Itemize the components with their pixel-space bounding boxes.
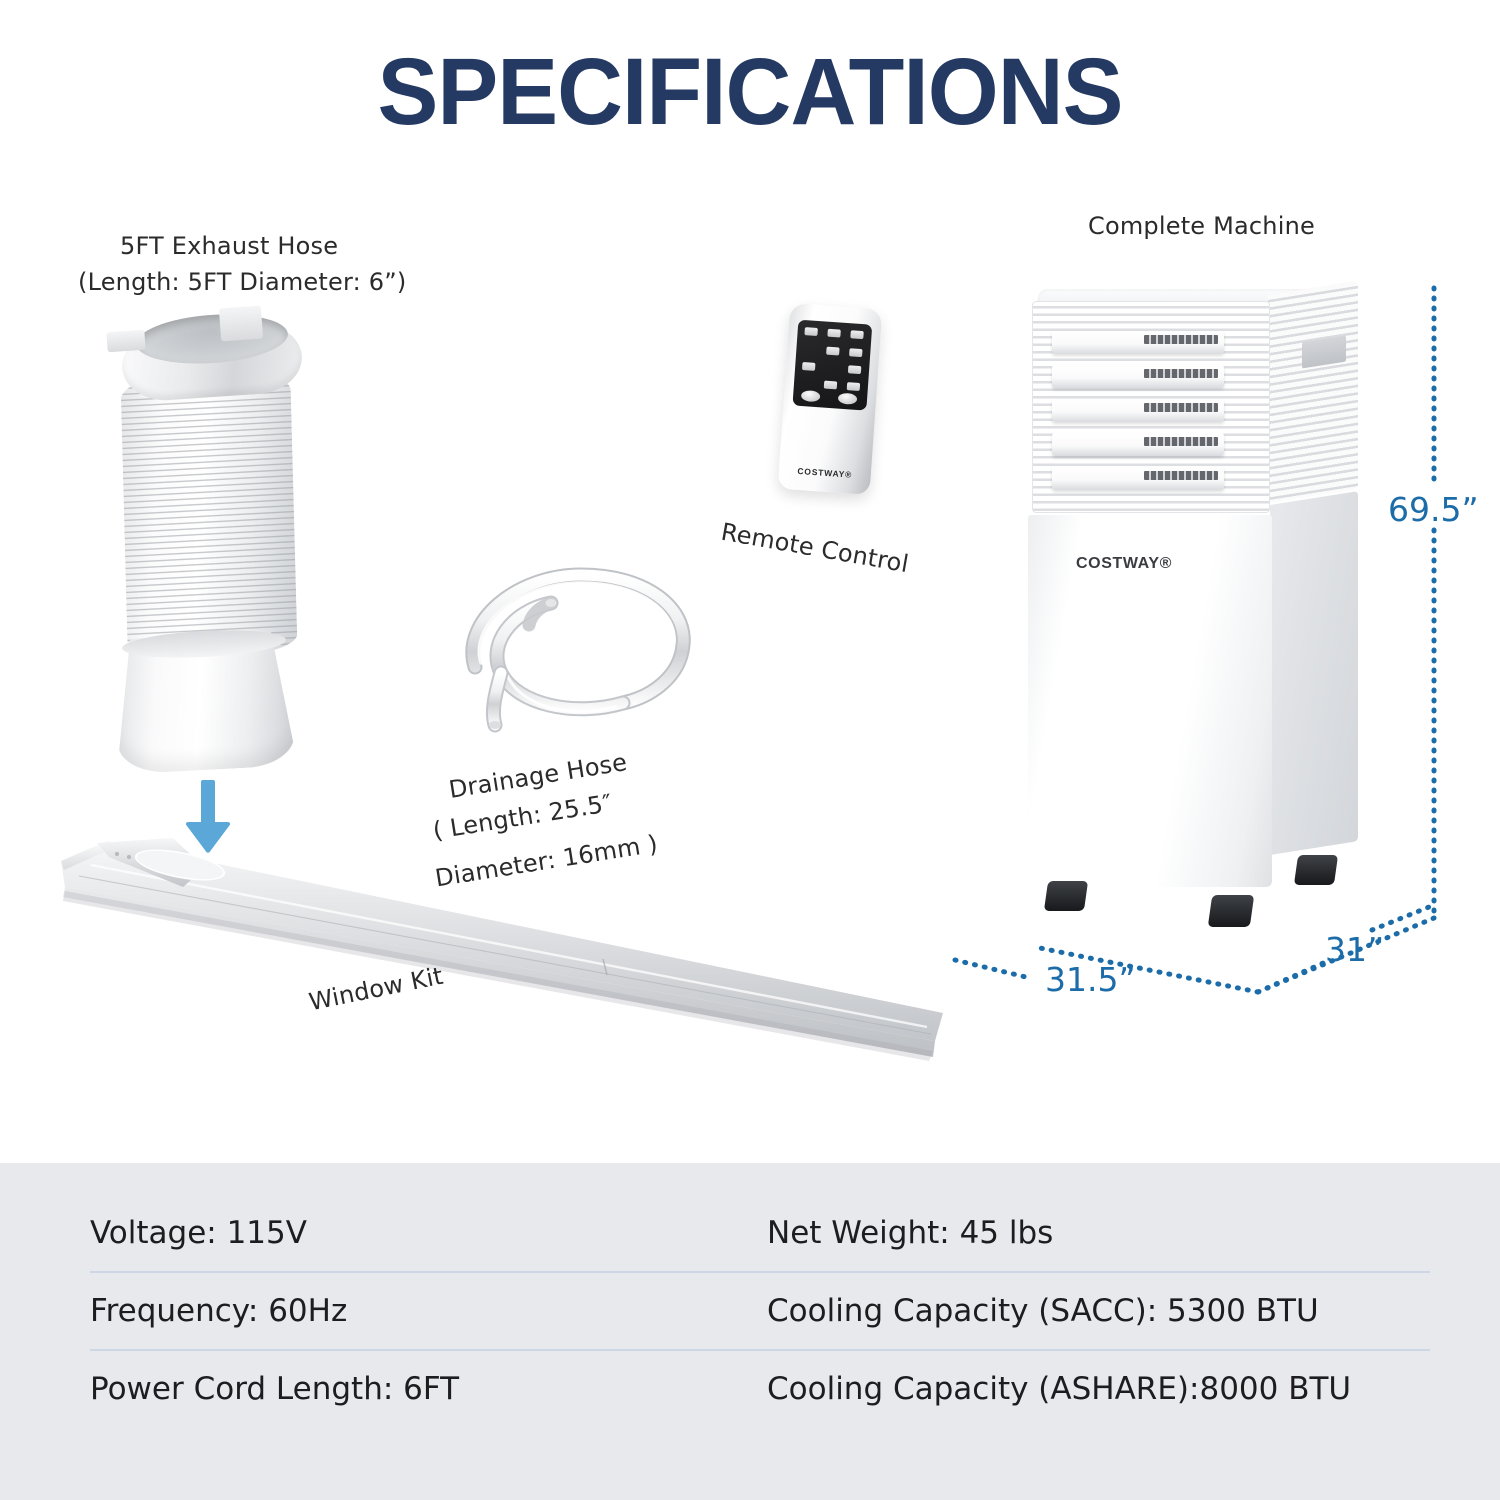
remote-control-label: Remote Control (719, 518, 911, 579)
spec-cell-cooling-sacc: Cooling Capacity (SACC): 5300 BTU (745, 1273, 1430, 1351)
hose-tab-left (106, 330, 145, 353)
spec-cell-cooling-ashare: Cooling Capacity (ASHARE):8000 BTU (745, 1351, 1430, 1427)
specification-sheet: SPECIFICATIONS 5FT Exhaust Hose (Length:… (0, 0, 1500, 1500)
ac-louver (1052, 365, 1224, 388)
exhaust-hose-label-line1: 5FT Exhaust Hose (120, 232, 338, 260)
remote-button-sleep[interactable] (824, 381, 838, 390)
remote-brand-label: COSTWAY® (779, 465, 871, 481)
remote-control-image: COSTWAY® (778, 303, 883, 495)
ac-body-side (1270, 491, 1358, 855)
remote-button-timer[interactable] (801, 390, 821, 402)
drainage-hose-image (455, 555, 705, 740)
ac-louver (1052, 433, 1224, 456)
specs-table: Voltage: 115V Net Weight: 45 lbs Frequen… (90, 1195, 1430, 1427)
spec-cell-net-weight: Net Weight: 45 lbs (745, 1195, 1430, 1273)
remote-button-low[interactable] (802, 362, 816, 371)
dimension-width-label: 31.5” (1045, 960, 1136, 999)
ac-caster (1208, 895, 1254, 927)
complete-machine-label: Complete Machine (1088, 212, 1315, 240)
remote-button-power[interactable] (838, 393, 858, 405)
remote-button-high[interactable] (804, 327, 818, 336)
ac-louver (1052, 467, 1224, 490)
hose-corrugated-body (120, 365, 297, 664)
ac-brand-label: COSTWAY® (1076, 555, 1172, 573)
remote-button-unit[interactable] (847, 382, 861, 391)
exhaust-hose-image (112, 305, 317, 775)
dimension-depth-label: 31” (1325, 930, 1384, 969)
hose-tab-right (219, 306, 263, 342)
ac-caster (1044, 881, 1088, 911)
remote-button-fan[interactable] (848, 365, 862, 374)
spec-cell-power-cord: Power Cord Length: 6FT (90, 1351, 745, 1427)
remote-button-panel (792, 320, 872, 411)
remote-button-cool[interactable] (850, 330, 864, 339)
spec-cell-voltage: Voltage: 115V (90, 1195, 745, 1273)
ac-side-grille (1268, 281, 1358, 503)
exhaust-hose-label-line2: (Length: 5FT Diameter: 6”) (78, 268, 406, 296)
dimension-height-label: 69.5” (1388, 490, 1479, 529)
ac-caster (1294, 855, 1338, 885)
ac-louver (1052, 399, 1224, 422)
air-conditioner-image: COSTWAY® (1020, 283, 1370, 923)
ac-louver (1052, 331, 1224, 354)
remote-button-dry[interactable] (849, 348, 863, 357)
specs-panel: Voltage: 115V Net Weight: 45 lbs Frequen… (0, 1163, 1500, 1500)
spec-cell-frequency: Frequency: 60Hz (90, 1273, 745, 1351)
page-title: SPECIFICATIONS (30, 38, 1470, 147)
remote-button-down[interactable] (826, 347, 840, 356)
remote-button-up[interactable] (827, 329, 841, 338)
